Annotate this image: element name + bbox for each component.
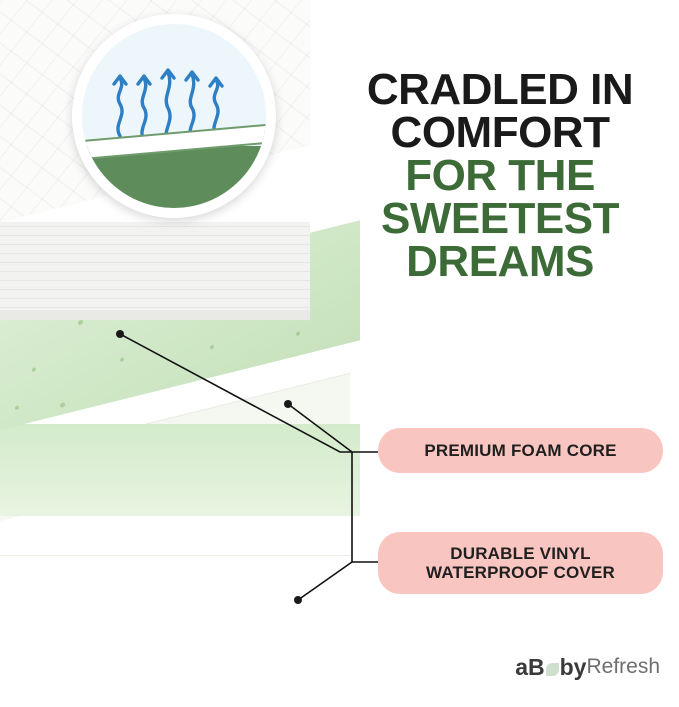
brand-logo: aB by Refresh — [470, 650, 660, 684]
callout-durable-vinyl-cover-line-1: DURABLE VINYL — [426, 544, 615, 563]
headline-line-5: DREAMS — [330, 240, 670, 283]
leaf-icon — [546, 663, 559, 676]
headline-line-2: COMFORT — [330, 111, 670, 154]
headline-line-4: SWEETEST — [330, 197, 670, 240]
callout-durable-vinyl-cover: DURABLE VINYL WATERPROOF COVER — [378, 532, 663, 594]
callout-premium-foam-core-label: PREMIUM FOAM CORE — [424, 441, 616, 460]
headline-line-1: CRADLED IN — [330, 68, 670, 111]
pad-layer-front — [0, 222, 310, 317]
callout-premium-foam-core: PREMIUM FOAM CORE — [378, 428, 663, 473]
brand-part-a: aB — [515, 654, 544, 681]
headline-line-3: FOR THE — [330, 154, 670, 197]
leader-dot-top-pad — [116, 330, 124, 338]
brand-part-c: Refresh — [586, 655, 660, 679]
callout-durable-vinyl-cover-line-2: WATERPROOF COVER — [426, 563, 615, 582]
headline: CRADLED IN COMFORT FOR THE SWEETEST DREA… — [330, 68, 670, 284]
leader-dot-vinyl-cover — [294, 596, 302, 604]
leader-dot-foam-core — [284, 400, 292, 408]
badge-inner-circle — [82, 24, 266, 208]
product-infographic: CRADLED IN COMFORT FOR THE SWEETEST DREA… — [0, 0, 679, 707]
foam-layer-front — [0, 424, 360, 516]
pad-layer-edge — [0, 310, 310, 320]
breathability-badge — [72, 14, 276, 218]
brand-part-b: by — [560, 654, 587, 681]
